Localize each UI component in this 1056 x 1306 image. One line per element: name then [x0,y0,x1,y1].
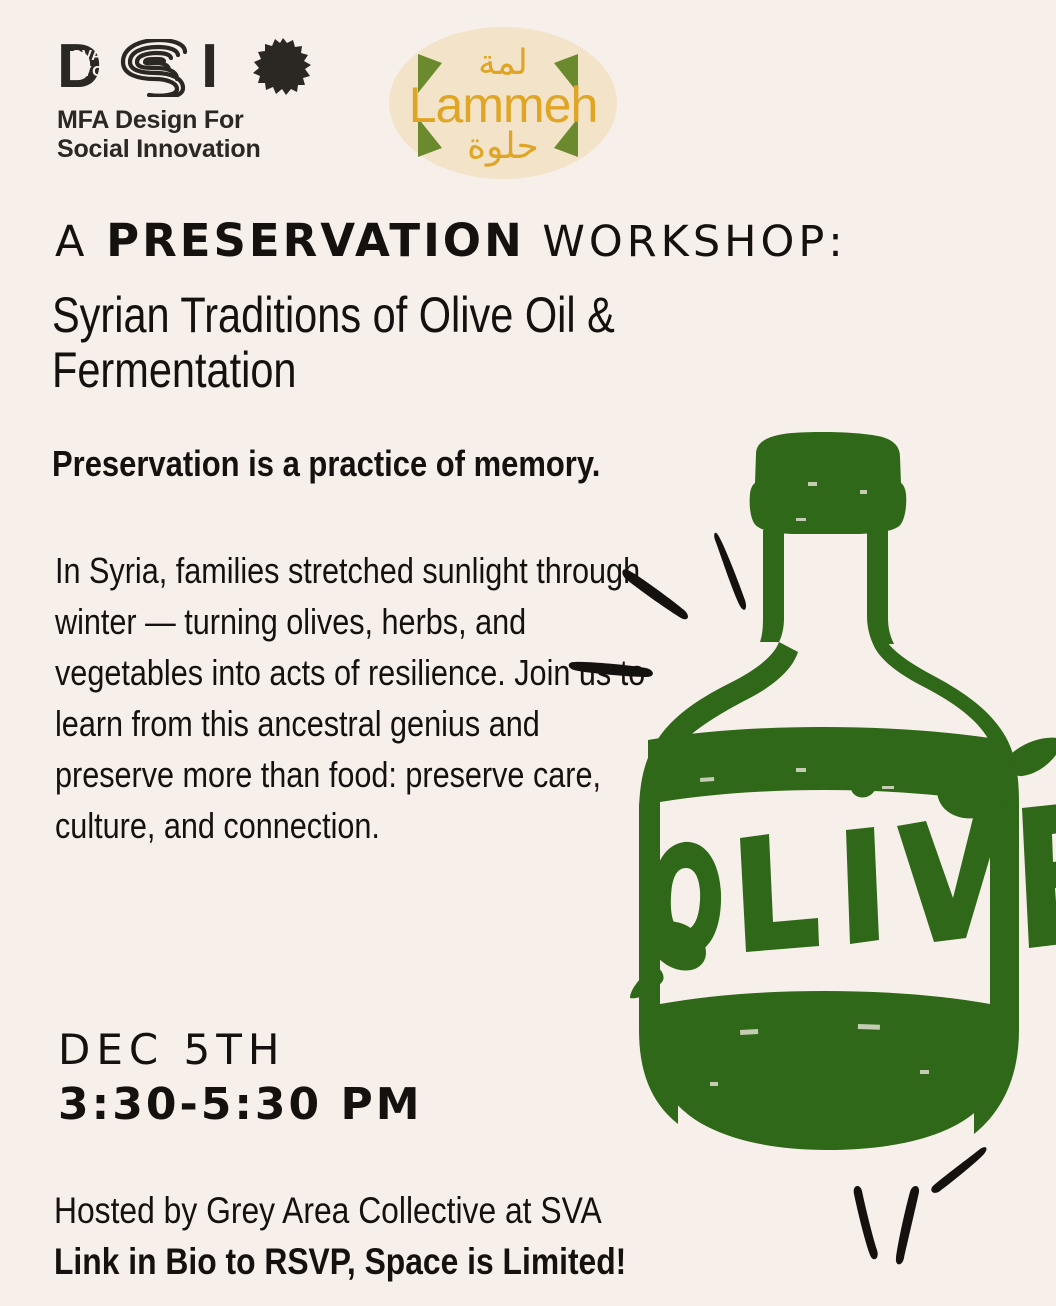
sva-nyc-badge-icon [253,38,313,98]
dsi-subtitle-line1: MFA Design For [57,106,357,135]
dsi-letter-i: I [201,36,217,98]
headline: A PRESERVATION WORKSHOP: [55,215,955,275]
olive-bottle-illustration [560,430,1056,1306]
dsi-wordmark: D I SVA NYC [57,36,322,98]
headline-part-b: WORKSHOP: [525,217,847,267]
dsi-logo: D I SVA NYC [57,36,357,171]
event-time: 3:30-5:30 PM [58,1076,578,1134]
olive-bottle-svg [560,430,1056,1306]
lammeh-name: Lammeh [389,77,617,133]
dsi-subtitle-line2: Social Innovation [57,135,357,164]
logo-row: D I SVA NYC [0,0,1056,195]
lammeh-arabic-bottom: حلوة [389,126,617,168]
sparkle-strokes-lower-right-icon [854,1147,987,1264]
event-date-block: DEC 5TH 3:30-5:30 PM [58,1024,578,1134]
headline-part-a: A [55,217,106,267]
headline-emphasis: PRESERVATION [106,214,525,267]
event-date: DEC 5TH [58,1024,578,1076]
dsi-letter-s-spiral-icon [115,39,193,97]
lammeh-logo: لمة Lammeh حلوة [389,27,617,179]
event-poster: D I SVA NYC [0,0,1056,1306]
sparkle-strokes-upper-left-icon [569,533,746,677]
dsi-letter-d: D [57,36,101,98]
dsi-subtitle: MFA Design For Social Innovation [57,106,357,164]
page-title: Syrian Traditions of Olive Oil & Ferment… [52,288,658,398]
